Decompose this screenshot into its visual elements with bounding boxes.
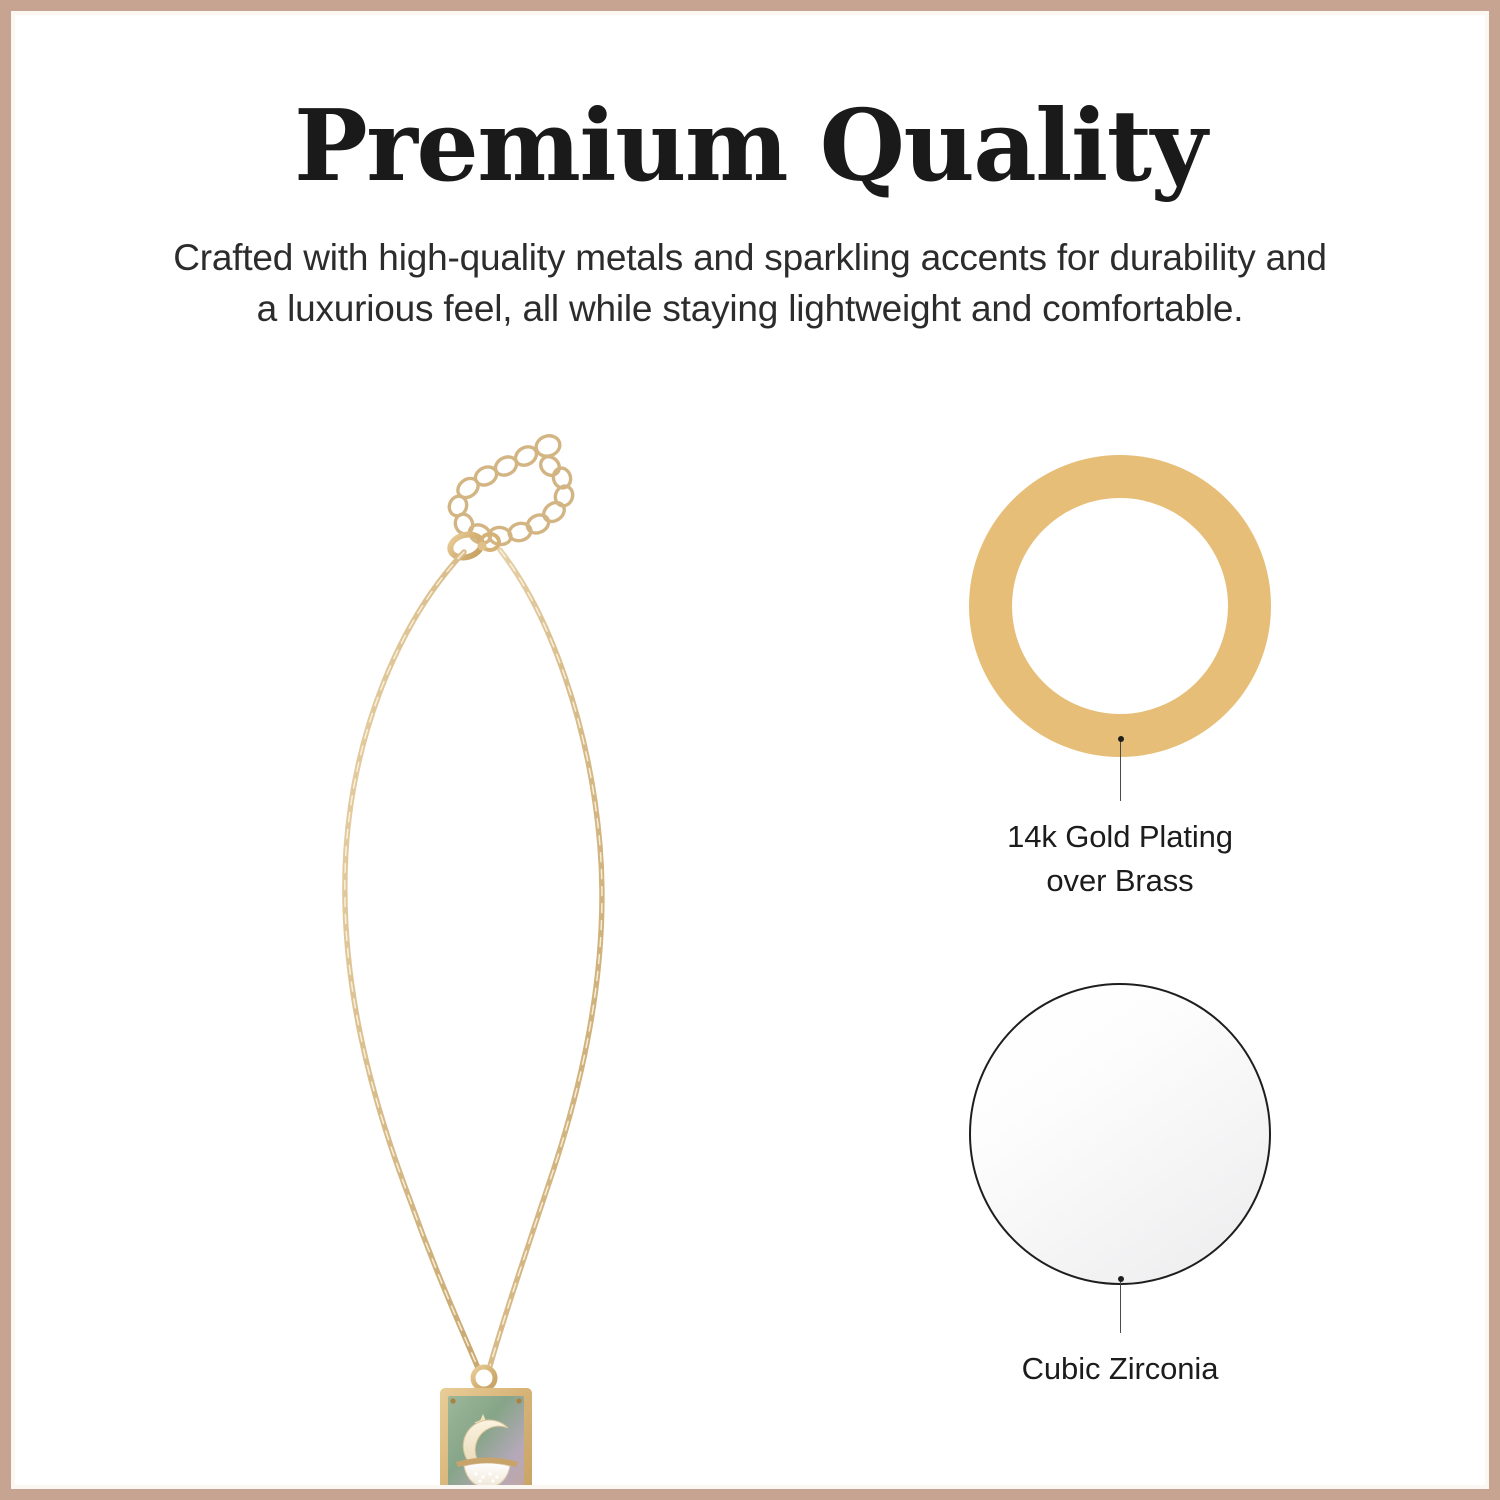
tarot-pendant: THE MOON xyxy=(440,1388,532,1500)
product-necklace-image: THE MOON xyxy=(250,400,770,1410)
subtitle-line-1: Crafted with high-quality metals and spa… xyxy=(170,232,1330,283)
header: Premium Quality Crafted with high-qualit… xyxy=(0,96,1500,334)
gem-leader-line xyxy=(1120,1279,1121,1333)
gold-ring-swatch-icon xyxy=(969,455,1271,757)
gold-plating-label: 14k Gold Plating over Brass xyxy=(860,815,1380,903)
gold-leader-line-wrap xyxy=(860,739,1380,801)
gem-leader-line-wrap xyxy=(860,1279,1380,1333)
gold-label-line-1: 14k Gold Plating xyxy=(860,815,1380,859)
necklace-illustration: THE MOON xyxy=(250,400,770,1410)
materials-column: 14k Gold Plating over Brass Cubic Zircon… xyxy=(860,455,1380,1391)
chain-right-strand xyxy=(490,550,602,1366)
pendant-bail xyxy=(473,1367,495,1389)
swatch-gold-plating: 14k Gold Plating over Brass xyxy=(860,455,1380,903)
subtitle-line-2: a luxurious feel, all while staying ligh… xyxy=(170,283,1330,334)
gold-leader-line xyxy=(1120,739,1121,801)
infographic-page: Premium Quality Crafted with high-qualit… xyxy=(0,0,1500,1500)
gem-label-line-1: Cubic Zirconia xyxy=(860,1347,1380,1391)
cubic-zirconia-label: Cubic Zirconia xyxy=(860,1347,1380,1391)
swatch-cubic-zirconia: Cubic Zirconia xyxy=(860,983,1380,1391)
gem-leader-dot xyxy=(1118,1276,1124,1282)
gold-label-line-2: over Brass xyxy=(860,859,1380,903)
page-title: Premium Quality xyxy=(0,96,1500,198)
clear-gem-circle-swatch-icon xyxy=(969,983,1271,1285)
chain-left-strand xyxy=(345,552,478,1368)
page-subtitle: Crafted with high-quality metals and spa… xyxy=(170,232,1330,334)
gold-leader-dot xyxy=(1118,736,1124,742)
